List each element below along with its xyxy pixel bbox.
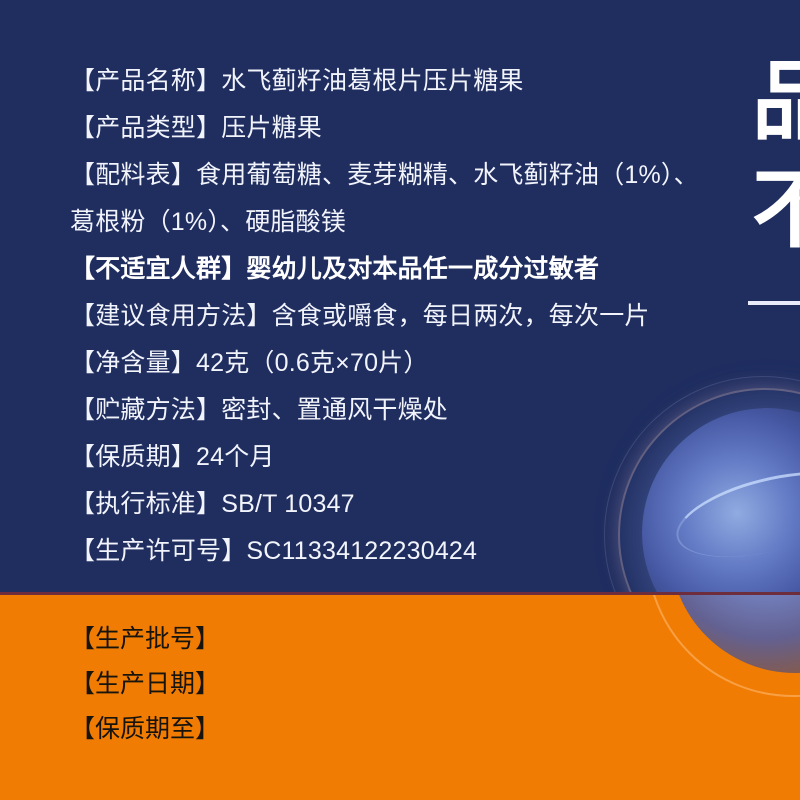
specification-list: 【产品名称】水飞蓟籽油葛根片压片糖果 【产品类型】压片糖果 【配料表】食用葡萄糖…	[70, 58, 720, 575]
spec-line-ingredients-part-1: 【配料表】食用葡萄糖、麦芽糊精、水飞蓟籽油（1%）、	[70, 152, 720, 199]
batch-line-best-before: 【保质期至】	[70, 707, 570, 752]
spec-line-production-license: 【生产许可号】SC11334122230424	[70, 528, 720, 575]
headline-underline-rule	[748, 301, 800, 305]
headline-cropped-text: 品 不	[752, 48, 800, 264]
batch-info-panel: 【生产批号】 【生产日期】 【保质期至】	[0, 595, 800, 800]
spec-line-standard-code: 【执行标准】SB/T 10347	[70, 481, 720, 528]
batch-line-production-date: 【生产日期】	[70, 662, 570, 707]
spec-line-unsuitable-population: 【不适宜人群】婴幼儿及对本品任一成分过敏者	[70, 246, 720, 293]
spec-line-product-name: 【产品名称】水飞蓟籽油葛根片压片糖果	[70, 58, 720, 105]
headline-line-2: 不	[752, 156, 800, 264]
batch-line-lot-number: 【生产批号】	[70, 617, 570, 662]
spec-line-storage-method: 【贮藏方法】密封、置通风干燥处	[70, 387, 720, 434]
batch-field-list: 【生产批号】 【生产日期】 【保质期至】	[70, 617, 570, 752]
spec-line-usage-suggestion: 【建议食用方法】含食或嚼食，每日两次，每次一片	[70, 293, 720, 340]
spec-line-product-type: 【产品类型】压片糖果	[70, 105, 720, 152]
product-label-image: 【产品名称】水飞蓟籽油葛根片压片糖果 【产品类型】压片糖果 【配料表】食用葡萄糖…	[0, 0, 800, 800]
spec-line-shelf-life: 【保质期】24个月	[70, 434, 720, 481]
spec-line-net-content: 【净含量】42克（0.6克×70片）	[70, 340, 720, 387]
spec-line-ingredients-part-2: 葛根粉（1%）、硬脂酸镁	[70, 199, 720, 246]
specification-panel: 【产品名称】水飞蓟籽油葛根片压片糖果 【产品类型】压片糖果 【配料表】食用葡萄糖…	[0, 0, 800, 592]
headline-line-1: 品	[752, 48, 800, 156]
